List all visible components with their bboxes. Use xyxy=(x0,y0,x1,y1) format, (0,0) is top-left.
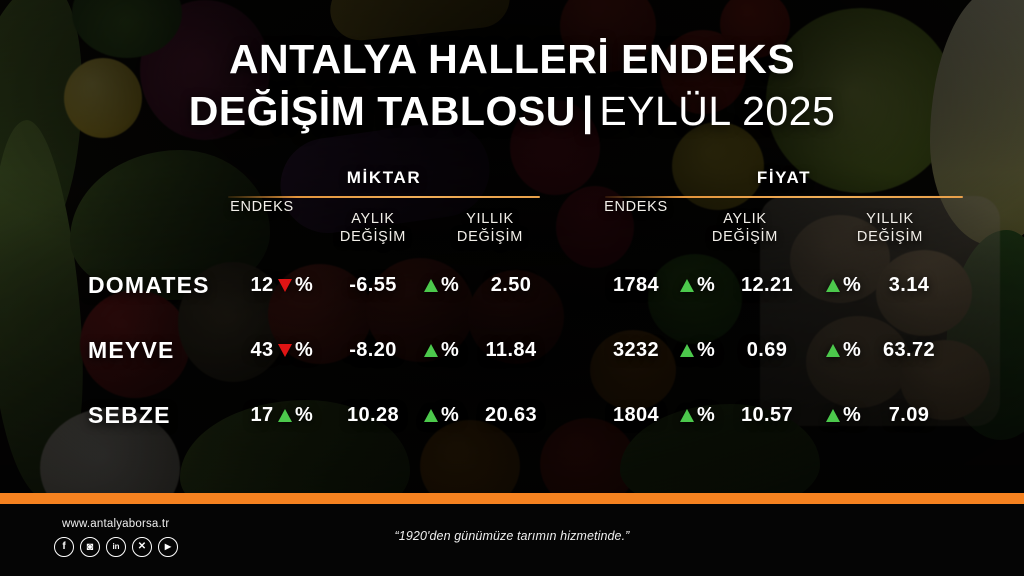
subheader-miktar-endeks: ENDEKS xyxy=(222,198,302,216)
percent-symbol: % xyxy=(843,339,861,362)
title-separator: | xyxy=(582,88,593,134)
infographic-screen: ANTALYA HALLERİ ENDEKS DEĞİŞİM TABLOSU|E… xyxy=(0,0,1024,576)
arrow-up-icon xyxy=(424,279,438,292)
arrow-up-icon xyxy=(278,409,292,422)
qty-yearly-indicator: % xyxy=(424,339,459,362)
price-yearly-value: 7.09 xyxy=(866,404,952,427)
subheader-fiyat-aylik-degisim: AYLIK DEĞİŞİM xyxy=(690,210,800,246)
table-row: SEBZE17%10.28%20.631804%10.57%7.09 xyxy=(0,382,1024,447)
price-monthly-indicator: % xyxy=(680,404,715,427)
table-row: MEYVE43%-8.20%11.843232%0.69%63.72 xyxy=(0,317,1024,382)
subheader-yillik-l2: DEĞİŞİM xyxy=(457,229,523,245)
title-line-2-strong: DEĞİŞİM TABLOSU xyxy=(189,88,576,134)
percent-symbol: % xyxy=(295,404,313,427)
qty-yearly-value: 20.63 xyxy=(466,404,556,427)
price-yearly-value: 63.72 xyxy=(866,339,952,362)
row-label: SEBZE xyxy=(88,402,171,429)
price-yearly-indicator: % xyxy=(826,339,861,362)
percent-symbol: % xyxy=(441,339,459,362)
qty-monthly-indicator: % xyxy=(278,339,313,362)
subheader-fiyat-aylik-l2: DEĞİŞİM xyxy=(712,229,778,245)
qty-yearly-indicator: % xyxy=(424,404,459,427)
price-yearly-indicator: % xyxy=(826,274,861,297)
row-label: DOMATES xyxy=(88,272,210,299)
table-group-header-row: MİKTAR FİYAT xyxy=(0,160,1024,198)
arrow-down-icon xyxy=(278,279,292,292)
table-body: DOMATES12%-6.55%2.501784%12.21%3.14MEYVE… xyxy=(0,252,1024,447)
percent-symbol: % xyxy=(441,274,459,297)
subheader-fiyat-endeks: ENDEKS xyxy=(594,198,678,216)
price-monthly-indicator: % xyxy=(680,274,715,297)
subheader-fiyat-yillik-l2: DEĞİŞİM xyxy=(857,229,923,245)
subheader-miktar-aylik-degisim: AYLIK DEĞİŞİM xyxy=(318,210,428,246)
percent-symbol: % xyxy=(295,274,313,297)
price-yearly-value: 3.14 xyxy=(866,274,952,297)
footer: www.antalyaborsa.tr f◙in✕▶ “1920'den gün… xyxy=(0,504,1024,576)
arrow-up-icon xyxy=(826,409,840,422)
price-yearly-indicator: % xyxy=(826,404,861,427)
footer-tagline: “1920'den günümüze tarımın hizmetinde.” xyxy=(0,529,1024,543)
percent-symbol: % xyxy=(843,274,861,297)
subheader-fiyat-yillik-degisim: YILLIK DEĞİŞİM xyxy=(835,210,945,246)
title-period: EYLÜL 2025 xyxy=(599,88,835,134)
price-index-value: 3232 xyxy=(594,339,678,362)
qty-monthly-indicator: % xyxy=(278,404,313,427)
subheader-aylik-l2: DEĞİŞİM xyxy=(340,229,406,245)
arrow-up-icon xyxy=(680,279,694,292)
arrow-up-icon xyxy=(424,409,438,422)
arrow-down-icon xyxy=(278,344,292,357)
subheader-miktar-yillik-degisim: YILLIK DEĞİŞİM xyxy=(435,210,545,246)
subheader-fiyat-aylik-l1: AYLIK xyxy=(723,211,767,227)
price-index-value: 1804 xyxy=(594,404,678,427)
group-title-fiyat: FİYAT xyxy=(605,168,963,188)
percent-symbol: % xyxy=(843,404,861,427)
qty-monthly-value: -6.55 xyxy=(330,274,416,297)
arrow-up-icon xyxy=(424,344,438,357)
subheader-yillik-l1: YILLIK xyxy=(466,211,514,227)
qty-yearly-value: 2.50 xyxy=(466,274,556,297)
percent-symbol: % xyxy=(697,339,715,362)
subheader-aylik-l1: AYLIK xyxy=(351,211,395,227)
percent-symbol: % xyxy=(697,274,715,297)
arrow-up-icon xyxy=(826,279,840,292)
qty-monthly-indicator: % xyxy=(278,274,313,297)
price-index-value: 1784 xyxy=(594,274,678,297)
subheader-fiyat-yillik-l1: YILLIK xyxy=(866,211,914,227)
arrow-up-icon xyxy=(826,344,840,357)
percent-symbol: % xyxy=(697,404,715,427)
arrow-up-icon xyxy=(680,344,694,357)
price-monthly-value: 0.69 xyxy=(722,339,812,362)
table-row: DOMATES12%-6.55%2.501784%12.21%3.14 xyxy=(0,252,1024,317)
table-subheader-row: ENDEKS AYLIK DEĞİŞİM YILLIK DEĞİŞİM ENDE… xyxy=(0,198,1024,252)
price-monthly-value: 10.57 xyxy=(722,404,812,427)
row-label: MEYVE xyxy=(88,337,175,364)
price-monthly-value: 12.21 xyxy=(722,274,812,297)
group-title-miktar: MİKTAR xyxy=(228,168,540,188)
qty-yearly-value: 11.84 xyxy=(466,339,556,362)
percent-symbol: % xyxy=(295,339,313,362)
page-title: ANTALYA HALLERİ ENDEKS DEĞİŞİM TABLOSU|E… xyxy=(0,34,1024,138)
percent-symbol: % xyxy=(441,404,459,427)
title-line-1: ANTALYA HALLERİ ENDEKS xyxy=(0,34,1024,84)
qty-yearly-indicator: % xyxy=(424,274,459,297)
index-change-table: MİKTAR FİYAT ENDEKS AYLIK DEĞİŞİM YILLIK… xyxy=(0,160,1024,447)
qty-monthly-value: -8.20 xyxy=(330,339,416,362)
price-monthly-indicator: % xyxy=(680,339,715,362)
qty-monthly-value: 10.28 xyxy=(330,404,416,427)
arrow-up-icon xyxy=(680,409,694,422)
accent-bar xyxy=(0,493,1024,504)
title-line-2: DEĞİŞİM TABLOSU|EYLÜL 2025 xyxy=(0,84,1024,138)
